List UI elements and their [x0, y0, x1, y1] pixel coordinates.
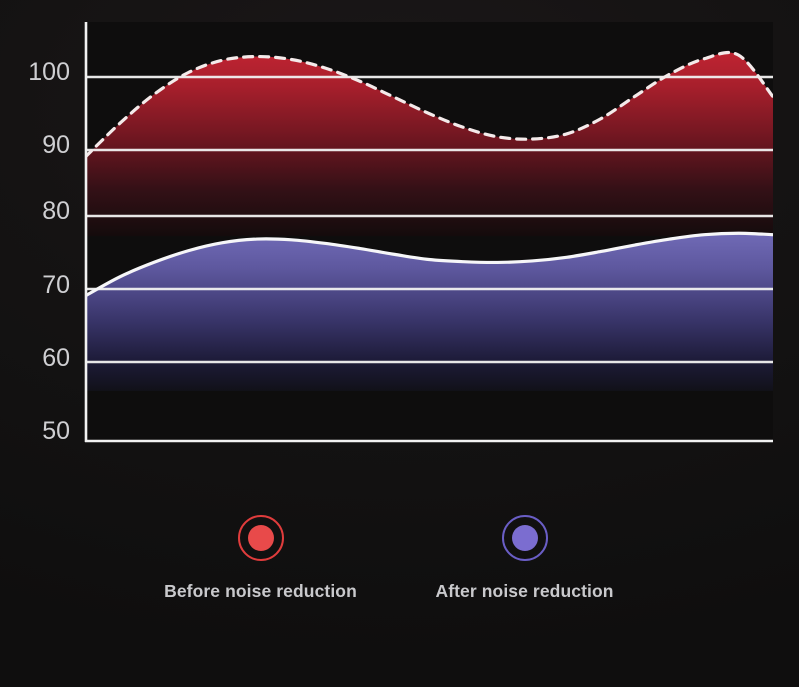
- plot-area: [0, 0, 799, 470]
- chart-legend: Before noise reduction After noise reduc…: [0, 470, 799, 687]
- ytick-label-60: 60: [10, 344, 70, 373]
- legend-dot-after: [512, 525, 538, 551]
- ytick-label-50: 50: [10, 417, 70, 446]
- legend-label-before: Before noise reduction: [147, 581, 374, 602]
- chart-page: 100 90 80 70 60 50: [0, 0, 799, 687]
- legend-item-after[interactable]: After noise reduction: [411, 515, 638, 602]
- chart-panel: 100 90 80 70 60 50: [0, 0, 799, 470]
- ring-dot-icon-before: [238, 515, 284, 561]
- ytick-label-80: 80: [10, 197, 70, 226]
- ytick-label-90: 90: [10, 131, 70, 160]
- legend-item-before[interactable]: Before noise reduction: [147, 515, 374, 602]
- legend-label-after: After noise reduction: [411, 581, 638, 602]
- ytick-label-70: 70: [10, 271, 70, 300]
- legend-dot-before: [248, 525, 274, 551]
- ring-dot-icon-after: [502, 515, 548, 561]
- ytick-label-100: 100: [10, 58, 70, 87]
